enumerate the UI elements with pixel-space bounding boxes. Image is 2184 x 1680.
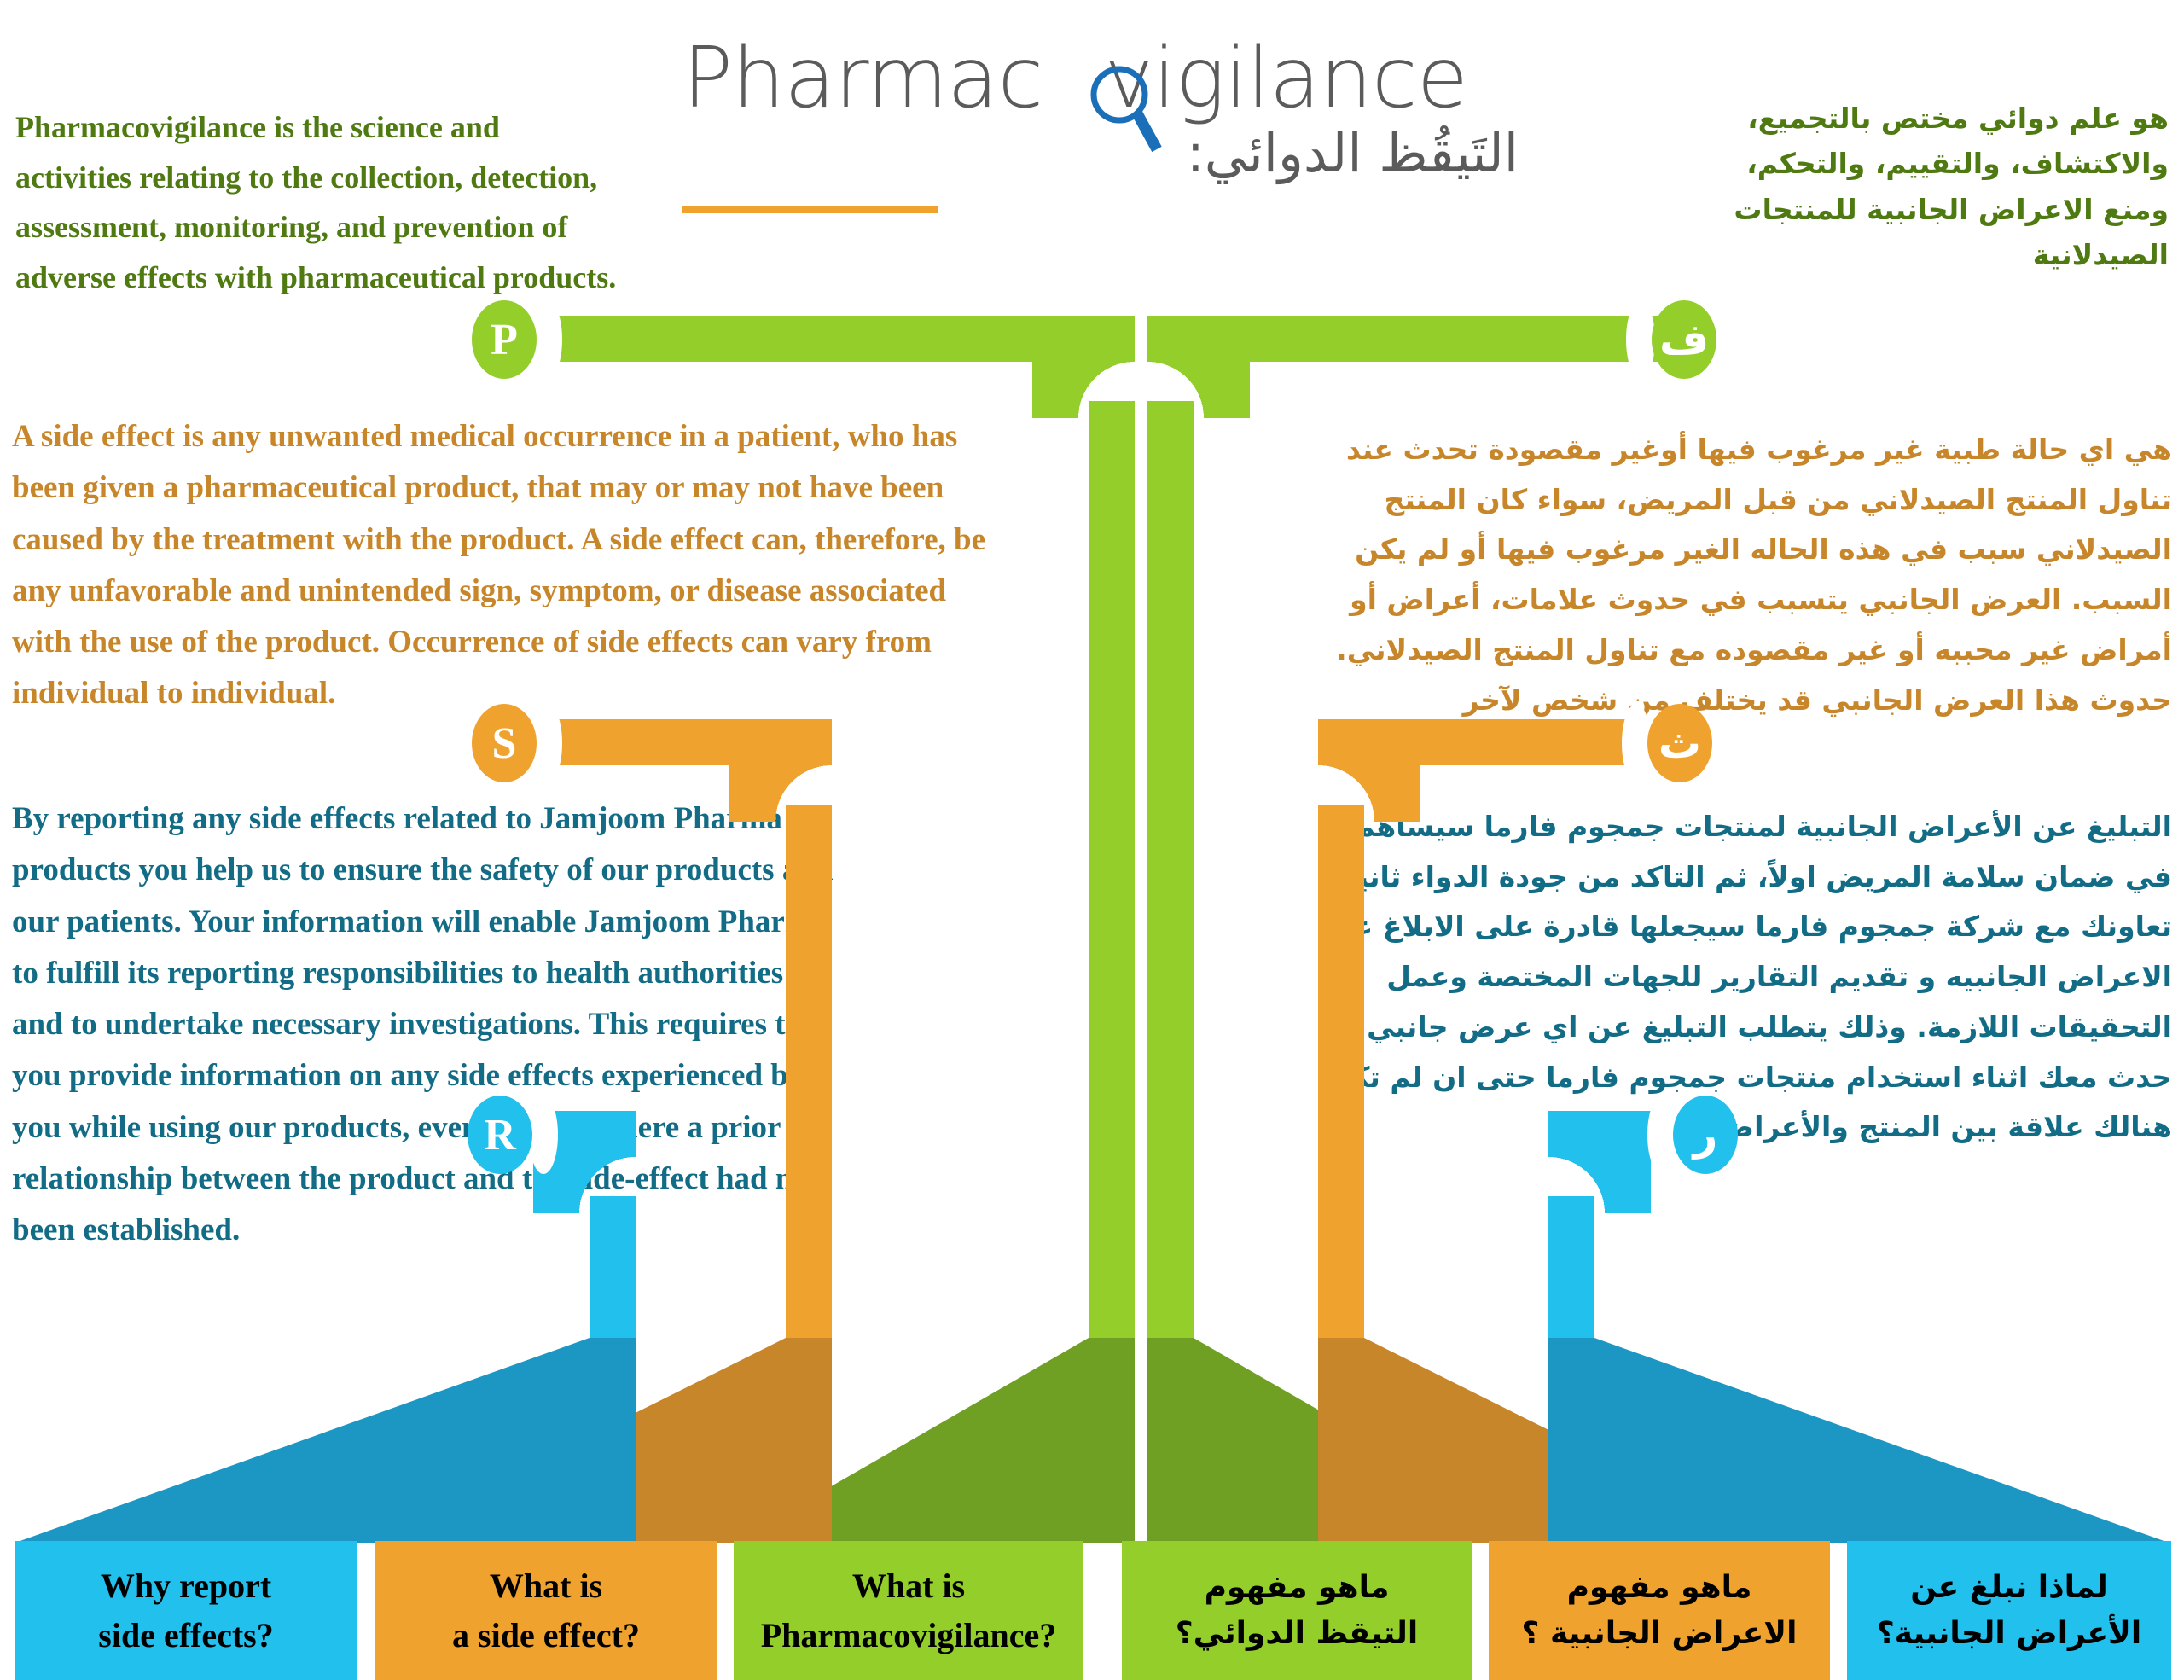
question-box-what-is-pharmacovigilance[interactable]: What is Pharmacovigilance? (734, 1541, 1083, 1680)
question-line-2: a side effect? (452, 1611, 640, 1660)
ribbon-vertical-pipe (1548, 1196, 1594, 1341)
badge-s: S (472, 704, 537, 782)
ribbon-vertical-pipe (1147, 401, 1194, 1341)
question-line-1: What is (852, 1561, 965, 1611)
paragraph-pharmacovigilance-ar: هو علم دوائي مختص بالتجميع، والاكتشاف، و… (1674, 96, 2169, 278)
question-line-1: Why report (101, 1561, 271, 1611)
badge-notch (533, 300, 562, 379)
question-box-what-is-pharmacovigilance-ar[interactable]: ماهو مفهوم التيقظ الدوائي؟ (1122, 1541, 1472, 1680)
paragraph-side-effect-ar: هي اي حالة طبية غير مرغوب فيها أوغير مقص… (1319, 425, 2172, 725)
ribbon-vertical-pipe (1318, 805, 1364, 1341)
paragraph-side-effect-en: A side effect is any unwanted medical oc… (12, 411, 1002, 720)
logo-wordmark: Pharmacvigilance (682, 30, 1467, 127)
question-line-2: الاعراض الجانبية ؟ (1522, 1611, 1798, 1657)
question-box-why-report-side-effects[interactable]: Why report side effects? (15, 1541, 357, 1680)
pharmacovigilance-logo: Pharmacvigilance التَيقُظ الدوائي: (674, 21, 1527, 222)
badge-notch (533, 704, 562, 782)
question-box-what-is-a-side-effect-ar[interactable]: ماهو مفهوم الاعراض الجانبية ؟ (1489, 1541, 1830, 1680)
question-line-2: التيقظ الدوائي؟ (1176, 1611, 1418, 1657)
question-line-1: ماهو مفهوم (1567, 1565, 1752, 1611)
badge-p: P (472, 300, 537, 379)
question-line-2: الأعراض الجانبية؟ (1877, 1611, 2141, 1657)
ribbon-tail-trapezoid (15, 1338, 636, 1543)
ribbon-vertical-pipe (786, 805, 832, 1341)
badge-tha: ث (1647, 704, 1712, 782)
ribbon-vertical-pipe (590, 1196, 636, 1341)
question-line-1: What is (490, 1561, 602, 1611)
badge-r: R (468, 1096, 532, 1174)
badge-fa: ف (1652, 300, 1716, 379)
question-line-1: لماذا نبلغ عن (1910, 1565, 2108, 1611)
magnifying-glass-icon (1089, 61, 1162, 154)
paragraph-why-report-en: By reporting any side effects related to… (12, 793, 839, 1257)
badge-notch (1647, 1096, 1676, 1174)
ribbon-vertical-pipe (1089, 401, 1135, 1341)
badge-ra: ر (1673, 1096, 1738, 1174)
paragraph-why-report-ar: التبليغ عن الأعراض الجانبية لمنتجات جمجو… (1310, 802, 2172, 1153)
paragraph-pharmacovigilance-en: Pharmacovigilance is the science and act… (15, 102, 621, 303)
question-line-2: Pharmacovigilance? (761, 1611, 1057, 1660)
logo-word-before: Pharmac (682, 30, 1043, 127)
ribbon-horizontal-segment (537, 316, 1088, 362)
question-line-2: side effects? (98, 1611, 273, 1660)
logo-underline-rule (682, 206, 938, 213)
logo-arabic-title: التَيقُظ الدوائي: (1187, 122, 1519, 184)
question-line-1: ماهو مفهوم (1205, 1565, 1390, 1611)
question-box-why-report-side-effects-ar[interactable]: لماذا نبلغ عن الأعراض الجانبية؟ (1847, 1541, 2171, 1680)
badge-notch (1626, 300, 1655, 379)
badge-notch (529, 1096, 558, 1174)
infographic-canvas: Pharmacvigilance التَيقُظ الدوائي: Pharm… (0, 0, 2184, 1680)
ribbon-tail-trapezoid (1548, 1338, 2169, 1543)
badge-notch (1622, 704, 1651, 782)
question-box-what-is-a-side-effect[interactable]: What is a side effect? (375, 1541, 717, 1680)
